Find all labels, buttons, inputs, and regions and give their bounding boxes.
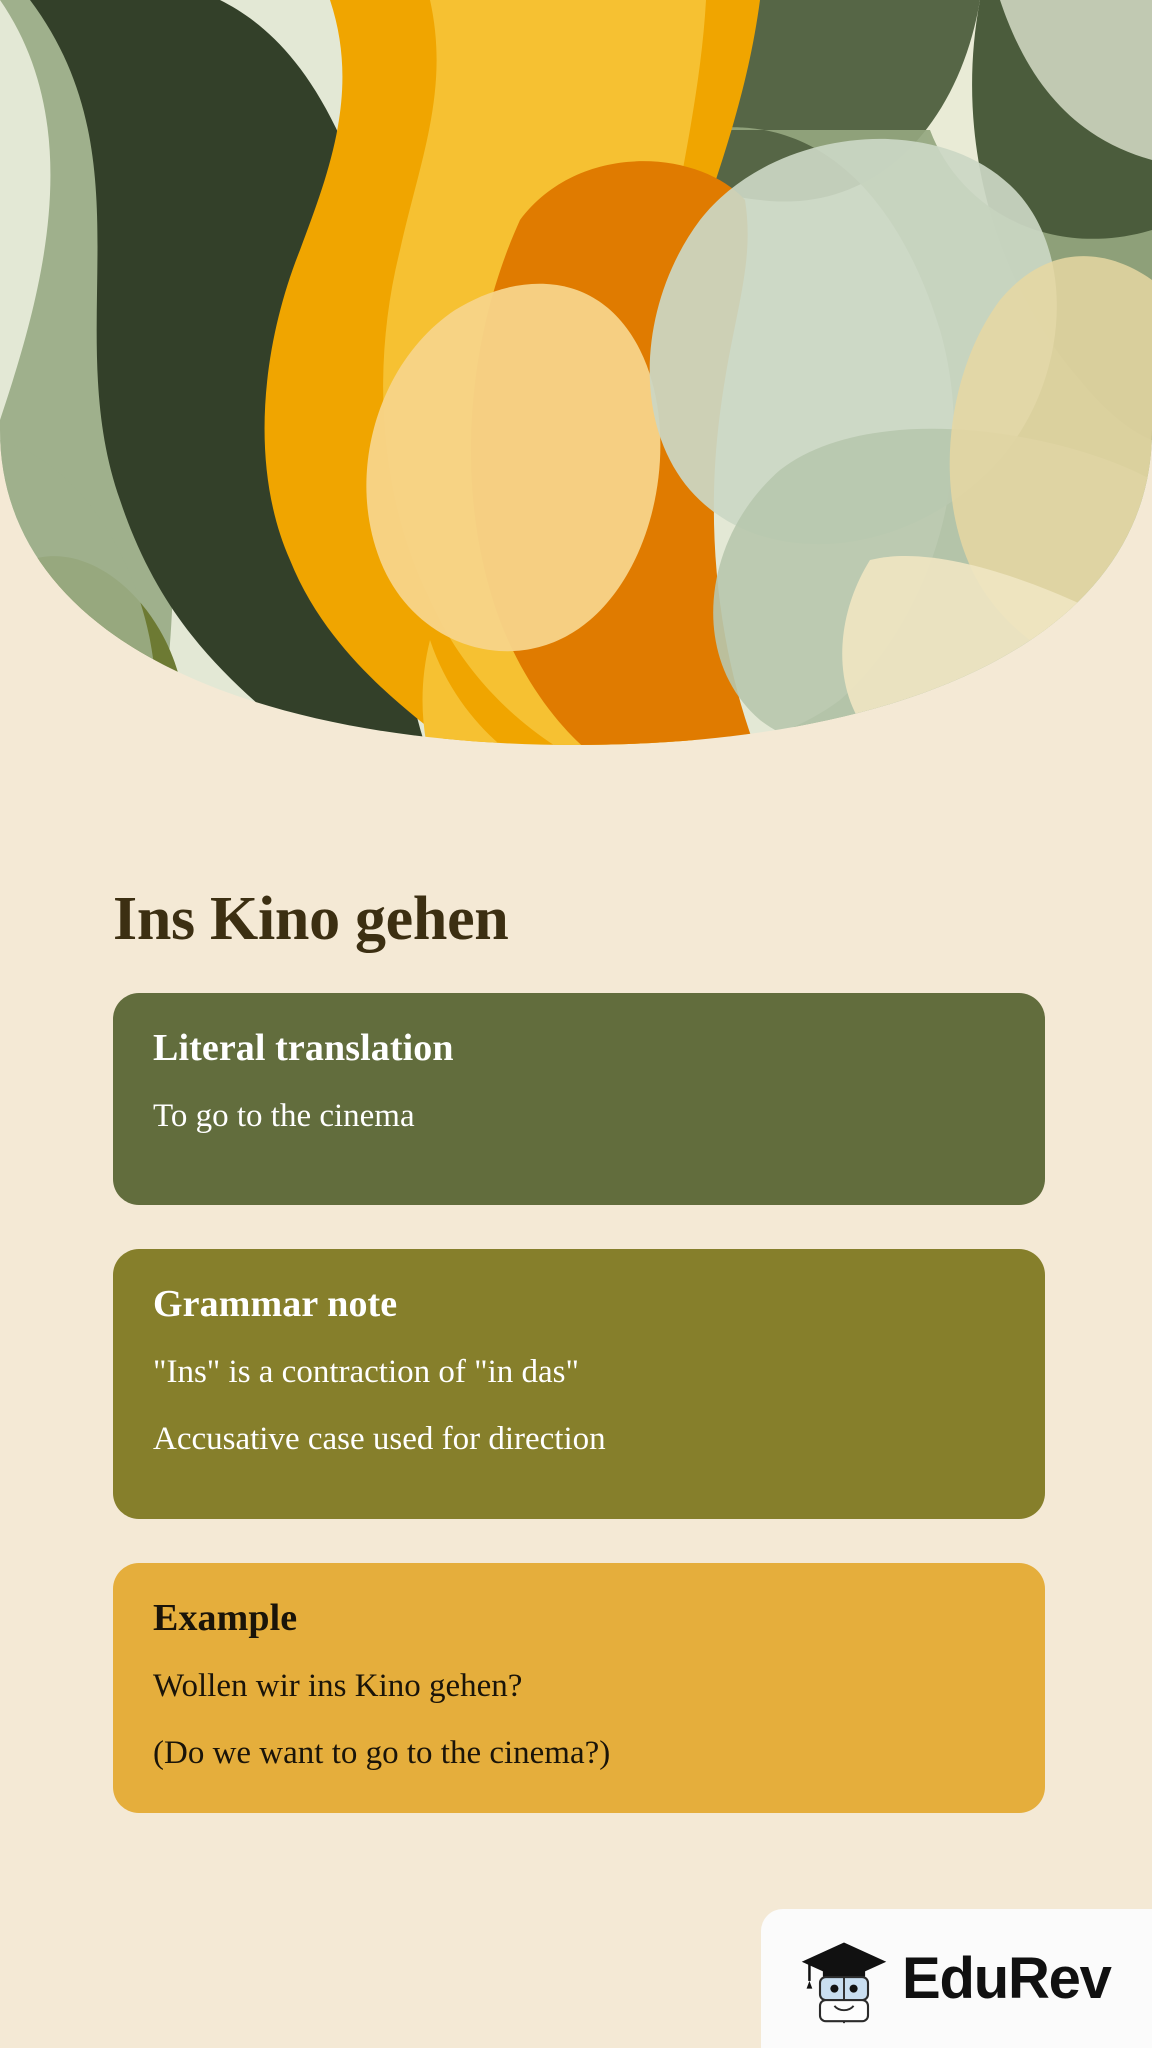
edurev-logo-badge[interactable]: EduRev bbox=[761, 1909, 1152, 2048]
graduation-cap-book-mascot-icon bbox=[796, 1931, 892, 2027]
card-title: Grammar note bbox=[153, 1283, 1005, 1327]
card-literal-translation[interactable]: Literal translation To go to the cinema bbox=[113, 993, 1045, 1205]
card-title: Example bbox=[153, 1597, 1005, 1641]
card-example[interactable]: Example Wollen wir ins Kino gehen? (Do w… bbox=[113, 1563, 1045, 1813]
card-line: "Ins" is a contraction of "in das" bbox=[153, 1351, 1005, 1394]
card-line: To go to the cinema bbox=[153, 1095, 1005, 1138]
card-title: Literal translation bbox=[153, 1027, 1005, 1071]
card-line: Accusative case used for direction bbox=[153, 1418, 1005, 1461]
card-line: Wollen wir ins Kino gehen? bbox=[153, 1665, 1005, 1708]
card-line: (Do we want to go to the cinema?) bbox=[153, 1732, 1005, 1775]
cards-list: Literal translation To go to the cinema … bbox=[113, 993, 1045, 1857]
hero-artwork bbox=[0, 0, 1152, 760]
page-title: Ins Kino gehen bbox=[113, 887, 508, 952]
edurev-brand-text: EduRev bbox=[902, 1945, 1111, 2012]
hero-svg bbox=[0, 0, 1152, 760]
card-grammar-note[interactable]: Grammar note "Ins" is a contraction of "… bbox=[113, 1249, 1045, 1519]
